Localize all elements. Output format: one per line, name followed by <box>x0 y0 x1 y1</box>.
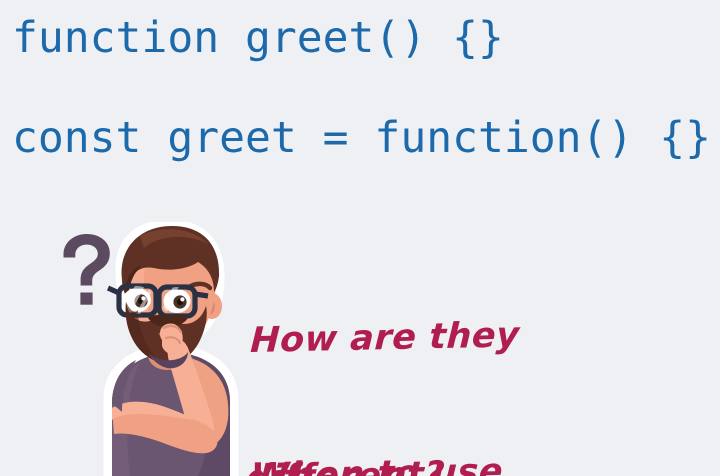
note-block-usage: When to use which one? <box>238 357 509 476</box>
note-line-when-to-use: When to use <box>249 449 504 476</box>
code-line-function-declaration: function greet() {} <box>12 12 504 64</box>
note-line-how-are-they: How are they <box>249 312 520 364</box>
code-line-function-expression: const greet = function() {} <box>12 112 711 164</box>
slide-canvas: function greet() {} const greet = functi… <box>0 0 720 476</box>
thinking-man-icon <box>62 222 254 476</box>
